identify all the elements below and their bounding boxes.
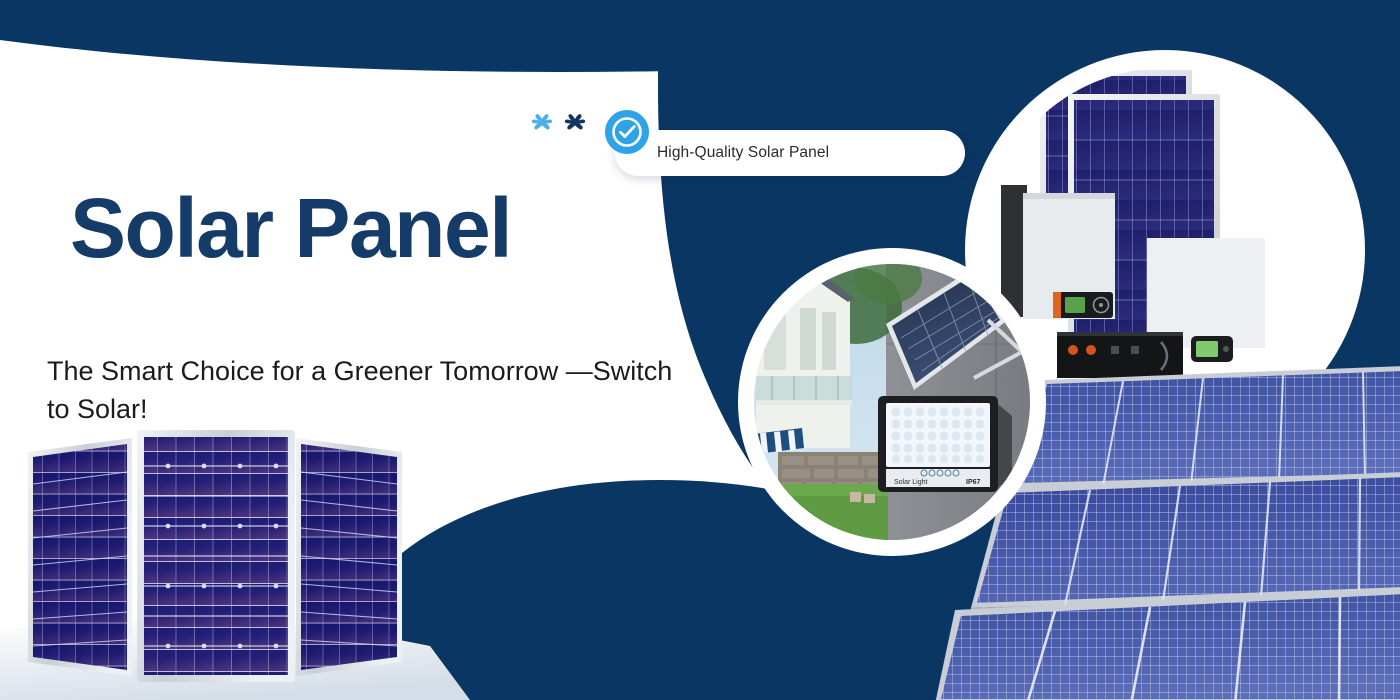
solar-panel-left — [28, 438, 132, 676]
kit-cabinet — [1147, 238, 1265, 348]
flood-light-brand-label: Solar Light — [894, 479, 928, 486]
check-circle-icon — [605, 110, 649, 154]
solar-flood-light: Solar Light IP67 — [878, 396, 1012, 492]
kit-inverter — [1001, 185, 1115, 319]
sparkle-x-icon — [561, 108, 589, 136]
page-title: Solar Panel — [70, 184, 511, 272]
badge-row — [528, 108, 601, 136]
sparkle-x-icon — [528, 108, 556, 136]
page-subtitle: The Smart Choice for a Greener Tomorrow … — [47, 352, 687, 429]
bottom-left-solar-panels — [10, 430, 450, 700]
house-solar-photo-circle: Solar Light IP67 — [738, 248, 1046, 556]
quality-badge-pill[interactable]: High-Quality Solar Panel — [615, 130, 965, 176]
quality-badge-label: High-Quality Solar Panel — [657, 144, 829, 162]
array-row-far — [1015, 366, 1400, 488]
solar-panel-right — [296, 438, 402, 676]
kit-monitor — [1191, 336, 1233, 362]
solar-panel-center — [137, 430, 295, 682]
flood-light-ip-rating: IP67 — [966, 479, 981, 486]
solar-panel-banner: Solar Light IP67 — [0, 0, 1400, 700]
